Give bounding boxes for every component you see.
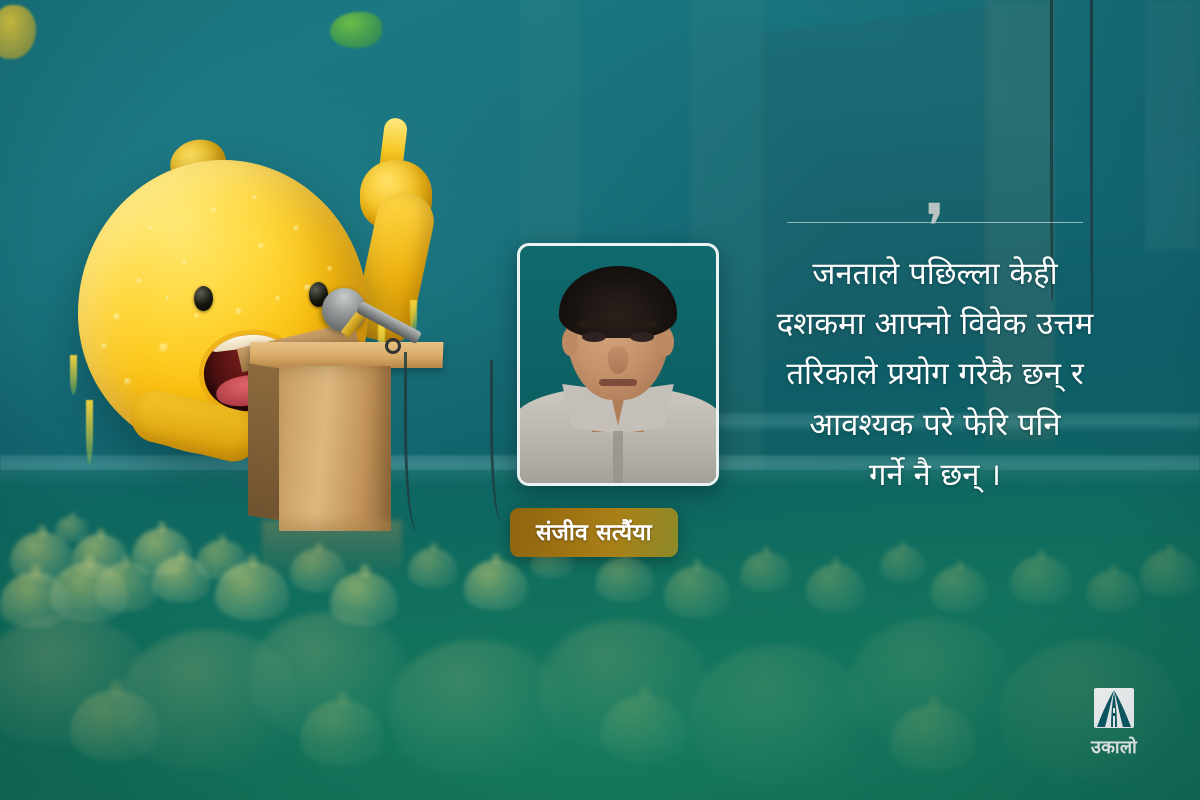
microphone-clip bbox=[385, 338, 401, 354]
portrait-eye-right bbox=[630, 332, 654, 342]
uphill-road-icon bbox=[1091, 686, 1137, 732]
portrait-eye-left bbox=[582, 332, 606, 342]
juice-drip bbox=[70, 355, 77, 395]
quote-divider-rule: ❜ bbox=[787, 222, 1083, 223]
quotation-mark-icon: ❜ bbox=[925, 196, 945, 258]
brand-logo: उकालो bbox=[1083, 686, 1145, 759]
quote-line: आवश्यक परे फेरि पनि bbox=[735, 400, 1135, 450]
quote-text: जनताले पछिल्ला केही दशकमा आफ्नो विवेक उत… bbox=[735, 249, 1135, 500]
podium-reflection bbox=[262, 520, 402, 580]
podium-body bbox=[279, 366, 391, 531]
lemon-eye-left bbox=[194, 286, 213, 311]
quote-block: ❜ जनताले पछिल्ला केही दशकमा आफ्नो विवेक … bbox=[735, 222, 1135, 500]
portrait-shirt-placket bbox=[613, 431, 623, 483]
leaf-icon bbox=[330, 12, 382, 48]
speaker-name-badge: संजीव सत्यैंया bbox=[510, 508, 678, 557]
portrait-hair bbox=[559, 266, 677, 338]
brand-name: उकालो bbox=[1083, 735, 1145, 759]
quote-line: तरिकाले प्रयोग गरेकै छन् र bbox=[735, 349, 1135, 399]
speaker-name: संजीव सत्यैंया bbox=[536, 515, 652, 547]
microphone-cable bbox=[490, 360, 508, 520]
quote-line: दशकमा आफ्नो विवेक उत्तम bbox=[735, 299, 1135, 349]
podium-side-panel bbox=[248, 363, 282, 520]
quote-line: गर्ने नै छन् । bbox=[735, 450, 1135, 500]
portrait-nose bbox=[608, 346, 628, 374]
speaker-portrait bbox=[517, 243, 719, 486]
portrait-mouth bbox=[599, 379, 637, 386]
quote-card: संजीव सत्यैंया ❜ जनताले पछिल्ला केही दशक… bbox=[0, 0, 1200, 800]
juice-drip bbox=[86, 400, 93, 464]
